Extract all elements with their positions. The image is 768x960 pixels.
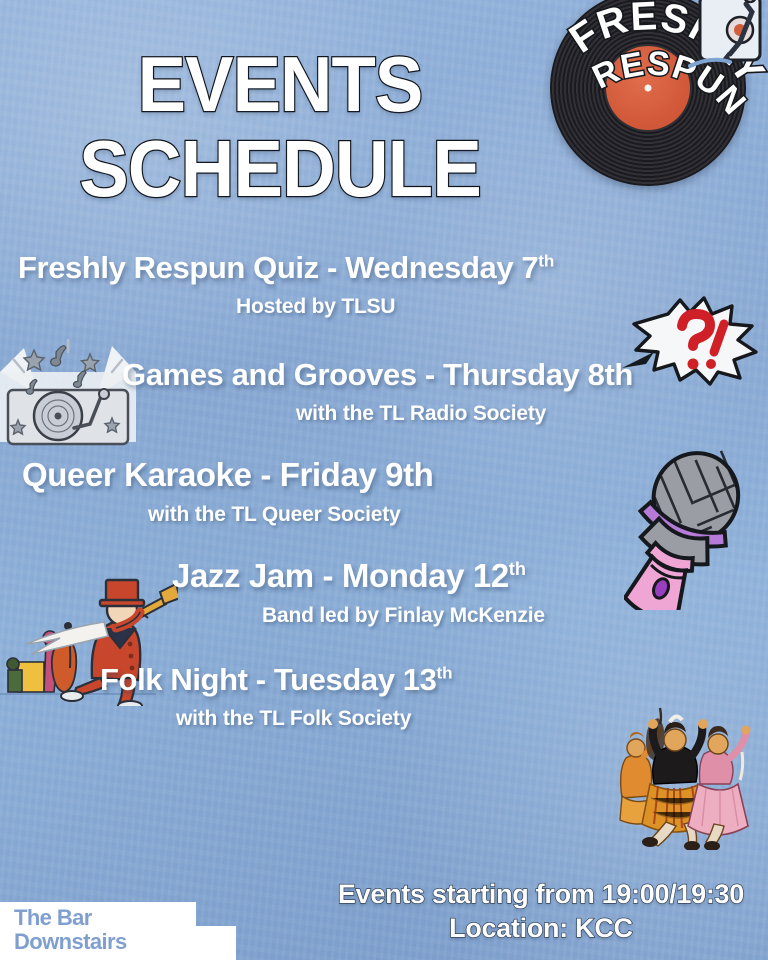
event-title: Queer Karaoke - Friday 9th	[0, 458, 768, 493]
events-schedule-poster: EVENTS SCHEDULE FRESHLY RESPUN	[0, 0, 768, 960]
event-title-text: Games and Grooves - Thursday 8th	[122, 357, 633, 392]
event-date-ordinal: th	[509, 559, 526, 579]
event-title: Freshly Respun Quiz - Wednesday 7th	[0, 252, 768, 285]
headline-line-schedule: SCHEDULE	[20, 129, 541, 208]
event-subtitle: with the TL Queer Society	[0, 502, 768, 527]
footer-info: Events starting from 19:00/19:30 Locatio…	[338, 877, 744, 946]
logo-text: The Bar Downstairs	[14, 906, 127, 954]
event-subtitle: Hosted by TLSU	[0, 294, 768, 319]
logo-line-1: The Bar	[14, 906, 127, 930]
event-subtitle: with the TL Radio Society	[0, 401, 768, 426]
event-date-ordinal: th	[436, 664, 452, 683]
logo-line-2: Downstairs	[14, 930, 127, 954]
event-item: Freshly Respun Quiz - Wednesday 7th Host…	[0, 252, 768, 319]
event-item: Games and Grooves - Thursday 8th with th…	[0, 359, 768, 426]
event-item: Queer Karaoke - Friday 9th with the TL Q…	[0, 458, 768, 527]
event-title: Folk Night - Tuesday 13th	[0, 664, 768, 697]
event-title: Jazz Jam - Monday 12th	[0, 559, 768, 594]
event-title-text: Jazz Jam - Monday 12	[172, 557, 509, 594]
event-title-text: Freshly Respun Quiz - Wednesday 7	[18, 250, 538, 285]
event-date-ordinal: th	[538, 252, 554, 271]
event-title-text: Queer Karaoke - Friday 9th	[22, 456, 433, 493]
page-title: EVENTS SCHEDULE	[0, 46, 560, 208]
headline-line-events: EVENTS	[20, 46, 541, 123]
event-item: Folk Night - Tuesday 13th with the TL Fo…	[0, 664, 768, 731]
the-bar-downstairs-logo: The Bar Downstairs	[0, 890, 236, 960]
events-list: Freshly Respun Quiz - Wednesday 7th Host…	[0, 252, 768, 753]
event-title-text: Folk Night - Tuesday 13	[100, 662, 436, 697]
event-subtitle: Band led by Finlay McKenzie	[0, 603, 768, 628]
event-subtitle: with the TL Folk Society	[0, 706, 768, 731]
footer-times: Events starting from 19:00/19:30	[338, 877, 744, 912]
event-item: Jazz Jam - Monday 12th Band led by Finla…	[0, 559, 768, 628]
event-title: Games and Grooves - Thursday 8th	[0, 359, 768, 392]
footer-location: Location: KCC	[338, 911, 744, 946]
tonearm-icon	[680, 0, 766, 86]
